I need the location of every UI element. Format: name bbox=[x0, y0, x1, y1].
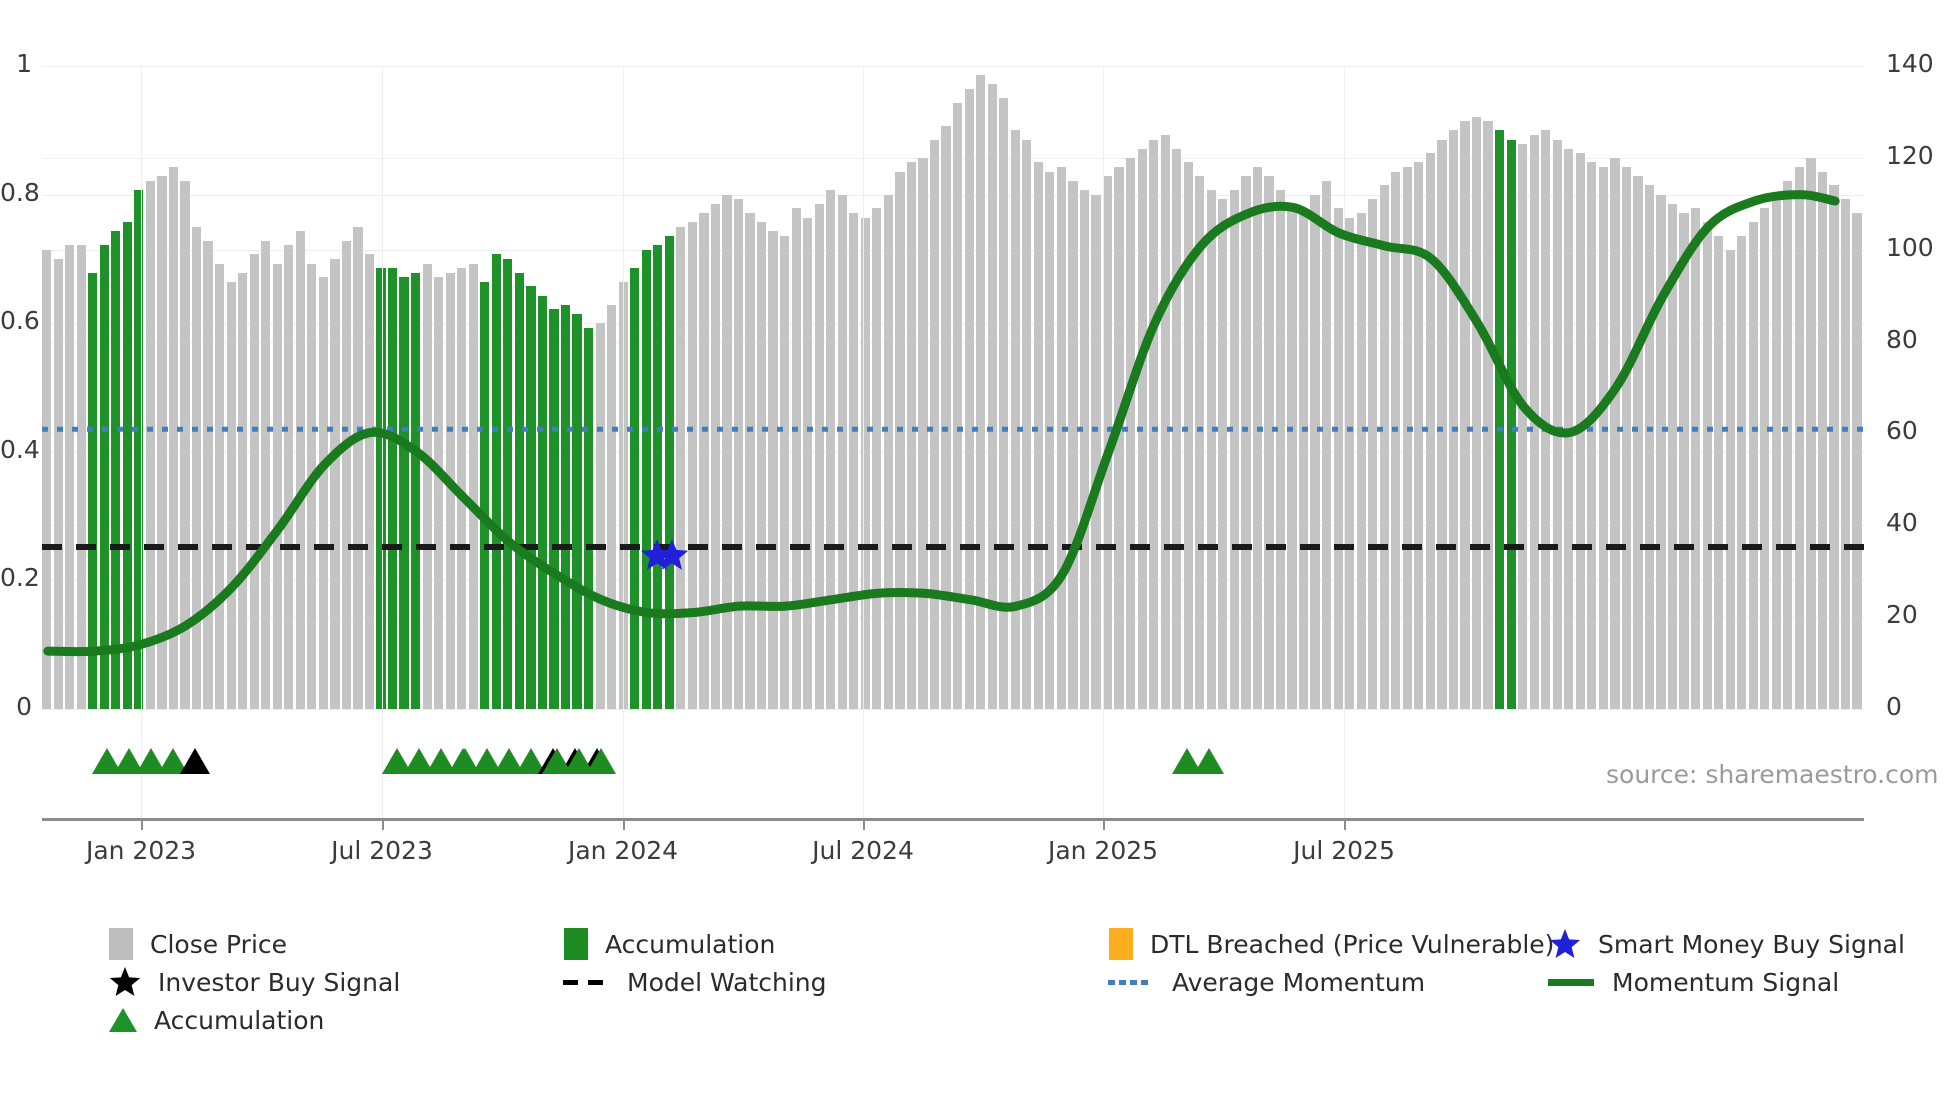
close-price-bar bbox=[1138, 149, 1147, 709]
close-price-bar bbox=[169, 167, 178, 709]
accumulation-bar bbox=[642, 250, 651, 709]
legend-label: Close Price bbox=[150, 930, 287, 959]
close-price-bar bbox=[688, 222, 697, 709]
momentum-signal-line-icon bbox=[1548, 965, 1596, 999]
accumulation-bar bbox=[100, 245, 109, 709]
close-price-bar bbox=[930, 140, 939, 710]
accumulation-bar bbox=[399, 277, 408, 709]
close-price-bar bbox=[1691, 208, 1700, 709]
close-price-bar bbox=[792, 208, 801, 709]
close-price-bar bbox=[273, 264, 282, 710]
close-price-bar bbox=[434, 277, 443, 709]
accumulation-bar bbox=[561, 305, 570, 709]
legend-row: Investor Buy SignalModel WatchingAverage… bbox=[108, 963, 1908, 1001]
y-axis-left-tick-label: 1 bbox=[0, 49, 32, 78]
close-price-bar bbox=[227, 282, 236, 709]
close-price-bar bbox=[1449, 130, 1458, 709]
legend-label: Average Momentum bbox=[1172, 968, 1425, 997]
legend-row: Close PriceAccumulationDTL Breached (Pri… bbox=[108, 925, 1908, 963]
gridline bbox=[42, 709, 1864, 710]
close-price-bar bbox=[330, 259, 339, 709]
close-price-bar bbox=[284, 245, 293, 709]
close-price-bar bbox=[192, 227, 201, 709]
close-price-bar bbox=[1310, 195, 1319, 709]
legend-item-momentum-signal[interactable]: Momentum Signal bbox=[1548, 963, 1839, 1001]
close-price-bar bbox=[1437, 140, 1446, 710]
close-price-bar bbox=[1357, 213, 1366, 709]
close-price-bar bbox=[1760, 208, 1769, 709]
close-price-bar bbox=[1149, 140, 1158, 710]
average-momentum-dot-icon bbox=[1108, 965, 1156, 999]
close-price-bar bbox=[1172, 149, 1181, 709]
accumulation-swatch-icon bbox=[563, 927, 589, 961]
chart-legend: Close PriceAccumulationDTL Breached (Pri… bbox=[108, 925, 1908, 1039]
close-price-bar bbox=[215, 264, 224, 710]
close-price-bar bbox=[1829, 185, 1838, 709]
accumulation-bar bbox=[526, 286, 535, 709]
y-axis-left-tick-label: 0.6 bbox=[0, 306, 32, 335]
close-price-bar bbox=[54, 259, 63, 709]
close-price-bar bbox=[722, 195, 731, 709]
close-price-bar bbox=[849, 213, 858, 709]
close-price-bar bbox=[1610, 158, 1619, 709]
close-price-bar bbox=[965, 89, 974, 709]
accumulation-bar bbox=[549, 309, 558, 709]
close-price-bar bbox=[941, 126, 950, 709]
close-price-bar bbox=[157, 176, 166, 709]
close-price-bar bbox=[918, 158, 927, 709]
legend-item-dtl-breached-price-vulnerable[interactable]: DTL Breached (Price Vulnerable) bbox=[1108, 925, 1554, 963]
close-price-bar bbox=[976, 75, 985, 709]
close-price-bar bbox=[907, 162, 916, 709]
close-price-bar bbox=[1564, 149, 1573, 709]
accumulation-bar bbox=[492, 254, 501, 709]
close-price-bar bbox=[1011, 130, 1020, 709]
close-price-bar bbox=[296, 231, 305, 709]
close-price-bar bbox=[1656, 195, 1665, 709]
y-axis-left-tick-label: 0.4 bbox=[0, 435, 32, 464]
close-price-bar bbox=[1599, 167, 1608, 709]
legend-item-model-watching[interactable]: Model Watching bbox=[563, 963, 827, 1001]
legend-item-investor-buy-signal[interactable]: Investor Buy Signal bbox=[108, 963, 400, 1001]
close-price-bar bbox=[1806, 158, 1815, 709]
close-price-bar bbox=[1391, 172, 1400, 709]
investor-buy-star-icon bbox=[108, 965, 142, 999]
close-price-bar bbox=[1380, 185, 1389, 709]
x-axis-tick bbox=[623, 818, 625, 830]
close-price-bar bbox=[1253, 167, 1262, 709]
close-price-bar bbox=[1679, 213, 1688, 709]
close-price-bar bbox=[1553, 140, 1562, 710]
close-price-bar bbox=[768, 231, 777, 709]
close-price-bar bbox=[988, 84, 997, 709]
legend-label: Investor Buy Signal bbox=[158, 968, 400, 997]
close-price-bar bbox=[319, 277, 328, 709]
close-price-bar bbox=[803, 218, 812, 709]
vertical-gridline bbox=[623, 66, 624, 818]
close-price-bar bbox=[1403, 167, 1412, 709]
close-price-bar bbox=[423, 264, 432, 710]
close-price-bar bbox=[1057, 167, 1066, 709]
vertical-gridline bbox=[1103, 66, 1104, 818]
legend-label: Accumulation bbox=[605, 930, 775, 959]
close-price-bar bbox=[457, 268, 466, 709]
accumulation-bar bbox=[630, 268, 639, 709]
accumulation-triangle-icon bbox=[108, 1003, 138, 1037]
x-axis-tick bbox=[382, 818, 384, 830]
accumulation-bar bbox=[653, 245, 662, 709]
y-axis-right-tick-label: 20 bbox=[1886, 600, 1918, 629]
close-price-bar bbox=[1230, 190, 1239, 709]
close-price-bar bbox=[1414, 162, 1423, 709]
accumulation-bar bbox=[111, 231, 120, 709]
x-axis-baseline bbox=[42, 818, 1864, 821]
close-price-bar bbox=[42, 250, 51, 709]
y-axis-right-tick-label: 140 bbox=[1886, 49, 1934, 78]
legend-label: Model Watching bbox=[627, 968, 827, 997]
close-price-swatch-icon bbox=[108, 927, 134, 961]
accumulation-bar bbox=[538, 296, 547, 709]
close-price-bar bbox=[745, 213, 754, 709]
close-price-bar bbox=[1772, 195, 1781, 709]
close-price-bar bbox=[1541, 130, 1550, 709]
x-axis-tick-label: Jul 2024 bbox=[812, 836, 914, 865]
close-price-bar bbox=[261, 241, 270, 709]
close-price-bar bbox=[1045, 172, 1054, 709]
x-axis-tick-label: Jul 2025 bbox=[1293, 836, 1395, 865]
model-watching-dash-icon bbox=[563, 965, 611, 999]
y-axis-left-tick-label: 0 bbox=[0, 692, 32, 721]
close-price-bar bbox=[1426, 153, 1435, 709]
close-price-bar bbox=[1368, 199, 1377, 709]
close-price-bar bbox=[307, 264, 316, 710]
legend-item-accumulation[interactable]: Accumulation bbox=[108, 1001, 324, 1039]
close-price-bar bbox=[699, 213, 708, 709]
x-axis-tick bbox=[863, 818, 865, 830]
vertical-gridline bbox=[141, 66, 142, 818]
close-price-bar bbox=[826, 190, 835, 709]
close-price-bar bbox=[1645, 185, 1654, 709]
legend-row: Accumulation bbox=[108, 1001, 1908, 1039]
x-axis-tick-label: Jul 2023 bbox=[331, 836, 433, 865]
close-price-bar bbox=[146, 181, 155, 709]
y-axis-right-tick-label: 60 bbox=[1886, 416, 1918, 445]
x-axis-tick-label: Jan 2025 bbox=[1048, 836, 1158, 865]
close-price-bar bbox=[1091, 195, 1100, 709]
accumulation-bar bbox=[388, 268, 397, 709]
legend-item-accumulation[interactable]: Accumulation bbox=[563, 925, 775, 963]
close-price-bar bbox=[203, 241, 212, 709]
investor-buy-triangle-icon bbox=[180, 748, 210, 774]
close-price-bar bbox=[1103, 176, 1112, 709]
close-price-bar bbox=[1080, 190, 1089, 709]
close-price-bar bbox=[1818, 172, 1827, 709]
legend-label: Smart Money Buy Signal bbox=[1598, 930, 1905, 959]
price-bars-layer bbox=[42, 66, 1864, 709]
close-price-bar bbox=[711, 204, 720, 709]
close-price-bar bbox=[1703, 222, 1712, 709]
y-axis-right-tick-label: 80 bbox=[1886, 325, 1918, 354]
close-price-bar bbox=[1184, 162, 1193, 709]
x-axis-tick-label: Jan 2024 bbox=[568, 836, 678, 865]
close-price-bar bbox=[1207, 190, 1216, 709]
legend-label: Momentum Signal bbox=[1612, 968, 1839, 997]
x-axis-tick bbox=[1103, 818, 1105, 830]
plot-area bbox=[42, 66, 1864, 709]
close-price-bar bbox=[353, 227, 362, 709]
close-price-bar bbox=[1472, 117, 1481, 709]
close-price-bar bbox=[446, 273, 455, 709]
close-price-bar bbox=[999, 98, 1008, 709]
close-price-bar bbox=[1161, 135, 1170, 709]
close-price-bar bbox=[180, 181, 189, 709]
y-axis-right-tick-label: 40 bbox=[1886, 508, 1918, 537]
x-axis-tick-label: Jan 2023 bbox=[86, 836, 196, 865]
accumulation-bar bbox=[480, 282, 489, 709]
accumulation-bar bbox=[1507, 140, 1516, 710]
close-price-bar bbox=[1841, 199, 1850, 709]
close-price-bar bbox=[884, 195, 893, 709]
close-price-bar bbox=[65, 245, 74, 709]
close-price-bar bbox=[1126, 158, 1135, 709]
legend-item-average-momentum[interactable]: Average Momentum bbox=[1108, 963, 1425, 1001]
close-price-bar bbox=[1587, 162, 1596, 709]
accumulation-bar bbox=[665, 236, 674, 709]
close-price-bar bbox=[872, 208, 881, 709]
accumulation-bar bbox=[123, 222, 132, 709]
vertical-gridline bbox=[382, 66, 383, 818]
close-price-bar bbox=[1345, 218, 1354, 709]
accumulation-triangle-icon bbox=[586, 748, 616, 774]
close-price-bar bbox=[596, 323, 605, 709]
close-price-bar bbox=[1530, 135, 1539, 709]
close-price-bar bbox=[838, 195, 847, 709]
close-price-bar bbox=[1034, 162, 1043, 709]
close-price-bar bbox=[1483, 121, 1492, 709]
close-price-bar bbox=[1726, 250, 1735, 709]
smart-money-star-icon bbox=[1548, 927, 1582, 961]
y-axis-right-tick-label: 100 bbox=[1886, 233, 1934, 262]
close-price-bar bbox=[676, 227, 685, 709]
y-axis-right-tick-label: 0 bbox=[1886, 692, 1902, 721]
accumulation-triangle-icon bbox=[1194, 748, 1224, 774]
accumulation-bar bbox=[1495, 130, 1504, 709]
close-price-bar bbox=[780, 236, 789, 709]
close-price-bar bbox=[1518, 144, 1527, 709]
close-price-bar bbox=[1714, 236, 1723, 709]
close-price-bar bbox=[1852, 213, 1861, 709]
close-price-bar bbox=[1276, 190, 1285, 709]
chart-root: Jan 2023Jul 2023Jan 2024Jul 2024Jan 2025… bbox=[0, 0, 1960, 1102]
y-axis-left-tick-label: 0.8 bbox=[0, 178, 32, 207]
close-price-bar bbox=[365, 254, 374, 709]
close-price-bar bbox=[1749, 222, 1758, 709]
close-price-bar bbox=[1576, 153, 1585, 709]
close-price-bar bbox=[1795, 167, 1804, 709]
accumulation-bar bbox=[503, 259, 512, 709]
accumulation-bar bbox=[134, 190, 143, 709]
close-price-bar bbox=[1668, 204, 1677, 709]
dtl-breached-swatch-icon bbox=[1108, 927, 1134, 961]
accumulation-bar bbox=[515, 273, 524, 709]
vertical-gridline bbox=[863, 66, 864, 818]
close-price-bar bbox=[250, 254, 259, 709]
close-price-bar bbox=[1218, 199, 1227, 709]
legend-item-close-price[interactable]: Close Price bbox=[108, 925, 287, 963]
close-price-bar bbox=[1737, 236, 1746, 709]
legend-label: DTL Breached (Price Vulnerable) bbox=[1150, 930, 1554, 959]
close-price-bar bbox=[734, 199, 743, 709]
x-axis-tick bbox=[141, 818, 143, 830]
close-price-bar bbox=[1622, 167, 1631, 709]
close-price-bar bbox=[757, 222, 766, 709]
x-axis-tick bbox=[1344, 818, 1346, 830]
source-attribution: source: sharemaestro.com bbox=[1606, 760, 1939, 789]
vertical-gridline bbox=[1344, 66, 1345, 818]
close-price-bar bbox=[1114, 167, 1123, 709]
close-price-bar bbox=[1287, 204, 1296, 709]
close-price-bar bbox=[1334, 208, 1343, 709]
y-axis-right-tick-label: 120 bbox=[1886, 141, 1934, 170]
accumulation-bar bbox=[584, 328, 593, 709]
close-price-bar bbox=[1264, 176, 1273, 709]
close-price-bar bbox=[1633, 176, 1642, 709]
y-axis-left-tick-label: 0.2 bbox=[0, 563, 32, 592]
close-price-bar bbox=[1460, 121, 1469, 709]
close-price-bar bbox=[469, 264, 478, 710]
accumulation-bar bbox=[88, 273, 97, 709]
accumulation-bar bbox=[572, 314, 581, 709]
accumulation-bar bbox=[411, 273, 420, 709]
close-price-bar bbox=[815, 204, 824, 709]
close-price-bar bbox=[953, 103, 962, 709]
close-price-bar bbox=[1241, 176, 1250, 709]
close-price-bar bbox=[77, 245, 86, 709]
close-price-bar bbox=[342, 241, 351, 709]
close-price-bar bbox=[1299, 213, 1308, 709]
close-price-bar bbox=[607, 305, 616, 709]
legend-label: Accumulation bbox=[154, 1006, 324, 1035]
legend-item-smart-money-buy-signal[interactable]: Smart Money Buy Signal bbox=[1548, 925, 1905, 963]
close-price-bar bbox=[895, 172, 904, 709]
close-price-bar bbox=[1195, 176, 1204, 709]
close-price-bar bbox=[1022, 140, 1031, 710]
close-price-bar bbox=[1783, 181, 1792, 709]
close-price-bar bbox=[1068, 181, 1077, 709]
close-price-bar bbox=[238, 273, 247, 709]
close-price-bar bbox=[1322, 181, 1331, 709]
